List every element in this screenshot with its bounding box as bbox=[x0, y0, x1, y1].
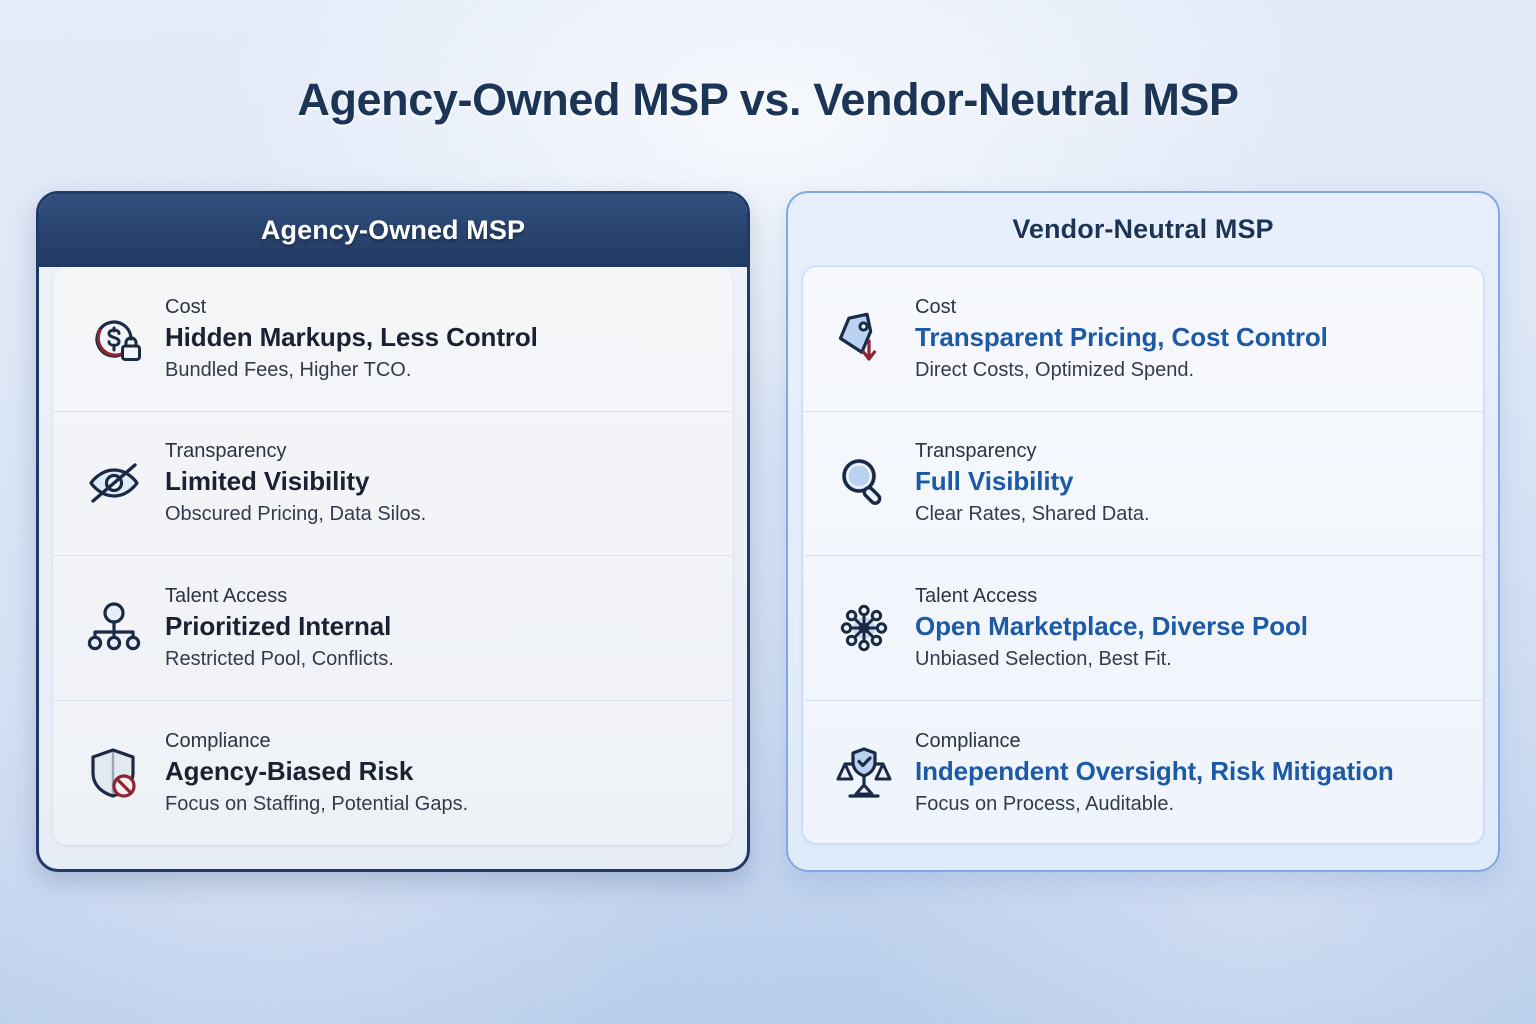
row-transparency-agency: Transparency Limited Visibility Obscured… bbox=[53, 412, 733, 557]
row-text: Transparency Full Visibility Clear Rates… bbox=[903, 439, 1465, 527]
dollar-lock-icon bbox=[75, 300, 153, 378]
page-title: Agency-Owned MSP vs. Vendor-Neutral MSP bbox=[0, 74, 1536, 126]
row-sub: Bundled Fees, Higher TCO. bbox=[165, 357, 715, 383]
row-label: Compliance bbox=[915, 729, 1465, 754]
row-value: Open Marketplace, Diverse Pool bbox=[915, 610, 1465, 644]
network-hub-icon bbox=[825, 589, 903, 667]
row-label: Cost bbox=[165, 295, 715, 320]
row-sub: Obscured Pricing, Data Silos. bbox=[165, 501, 715, 527]
card-agency-owned: Cost Hidden Markups, Less Control Bundle… bbox=[53, 267, 733, 845]
row-sub: Clear Rates, Shared Data. bbox=[915, 501, 1465, 527]
panel-vendor-neutral: Vendor-Neutral MSP Cost Transparent Pric… bbox=[786, 191, 1500, 872]
row-text: Compliance Agency-Biased Risk Focus on S… bbox=[153, 729, 715, 817]
row-sub: Direct Costs, Optimized Spend. bbox=[915, 357, 1465, 383]
row-cost-agency: Cost Hidden Markups, Less Control Bundle… bbox=[53, 267, 733, 412]
row-transparency-vendor: Transparency Full Visibility Clear Rates… bbox=[803, 412, 1483, 557]
row-talent-vendor: Talent Access Open Marketplace, Diverse … bbox=[803, 556, 1483, 701]
row-text: Compliance Independent Oversight, Risk M… bbox=[903, 729, 1465, 817]
row-label: Compliance bbox=[165, 729, 715, 754]
row-sub: Focus on Process, Auditable. bbox=[915, 791, 1465, 817]
panel-header-vendor-neutral: Vendor-Neutral MSP bbox=[788, 193, 1498, 266]
row-label: Cost bbox=[915, 295, 1465, 320]
row-talent-agency: Talent Access Prioritized Internal Restr… bbox=[53, 556, 733, 701]
org-chart-icon bbox=[75, 589, 153, 667]
row-label: Transparency bbox=[165, 439, 715, 464]
row-label: Transparency bbox=[915, 439, 1465, 464]
row-value: Prioritized Internal bbox=[165, 610, 715, 644]
row-sub: Unbiased Selection, Best Fit. bbox=[915, 646, 1465, 672]
row-sub: Restricted Pool, Conflicts. bbox=[165, 646, 715, 672]
row-value: Independent Oversight, Risk Mitigation bbox=[915, 755, 1465, 789]
row-text: Cost Hidden Markups, Less Control Bundle… bbox=[153, 295, 715, 383]
row-text: Cost Transparent Pricing, Cost Control D… bbox=[903, 295, 1465, 383]
row-text: Transparency Limited Visibility Obscured… bbox=[153, 439, 715, 527]
row-value: Full Visibility bbox=[915, 465, 1465, 499]
row-text: Talent Access Open Marketplace, Diverse … bbox=[903, 584, 1465, 672]
row-label: Talent Access bbox=[165, 584, 715, 609]
row-value: Transparent Pricing, Cost Control bbox=[915, 321, 1465, 355]
card-vendor-neutral: Cost Transparent Pricing, Cost Control D… bbox=[802, 266, 1484, 844]
row-compliance-vendor: Compliance Independent Oversight, Risk M… bbox=[803, 701, 1483, 845]
shield-blocked-icon bbox=[75, 734, 153, 812]
row-value: Hidden Markups, Less Control bbox=[165, 321, 715, 355]
row-cost-vendor: Cost Transparent Pricing, Cost Control D… bbox=[803, 267, 1483, 412]
row-text: Talent Access Prioritized Internal Restr… bbox=[153, 584, 715, 672]
row-sub: Focus on Staffing, Potential Gaps. bbox=[165, 791, 715, 817]
row-value: Agency-Biased Risk bbox=[165, 755, 715, 789]
row-value: Limited Visibility bbox=[165, 465, 715, 499]
panel-agency-owned: Agency-Owned MSP Cost Hidden Markups, Le bbox=[36, 191, 750, 872]
magnifier-icon bbox=[825, 444, 903, 522]
infographic-stage: Agency-Owned MSP vs. Vendor-Neutral MSP … bbox=[0, 0, 1536, 1024]
scales-shield-check-icon bbox=[825, 734, 903, 812]
row-label: Talent Access bbox=[915, 584, 1465, 609]
row-compliance-agency: Compliance Agency-Biased Risk Focus on S… bbox=[53, 701, 733, 846]
panel-header-agency-owned: Agency-Owned MSP bbox=[39, 194, 747, 267]
price-tag-down-arrow-icon bbox=[825, 300, 903, 378]
eye-off-icon bbox=[75, 444, 153, 522]
